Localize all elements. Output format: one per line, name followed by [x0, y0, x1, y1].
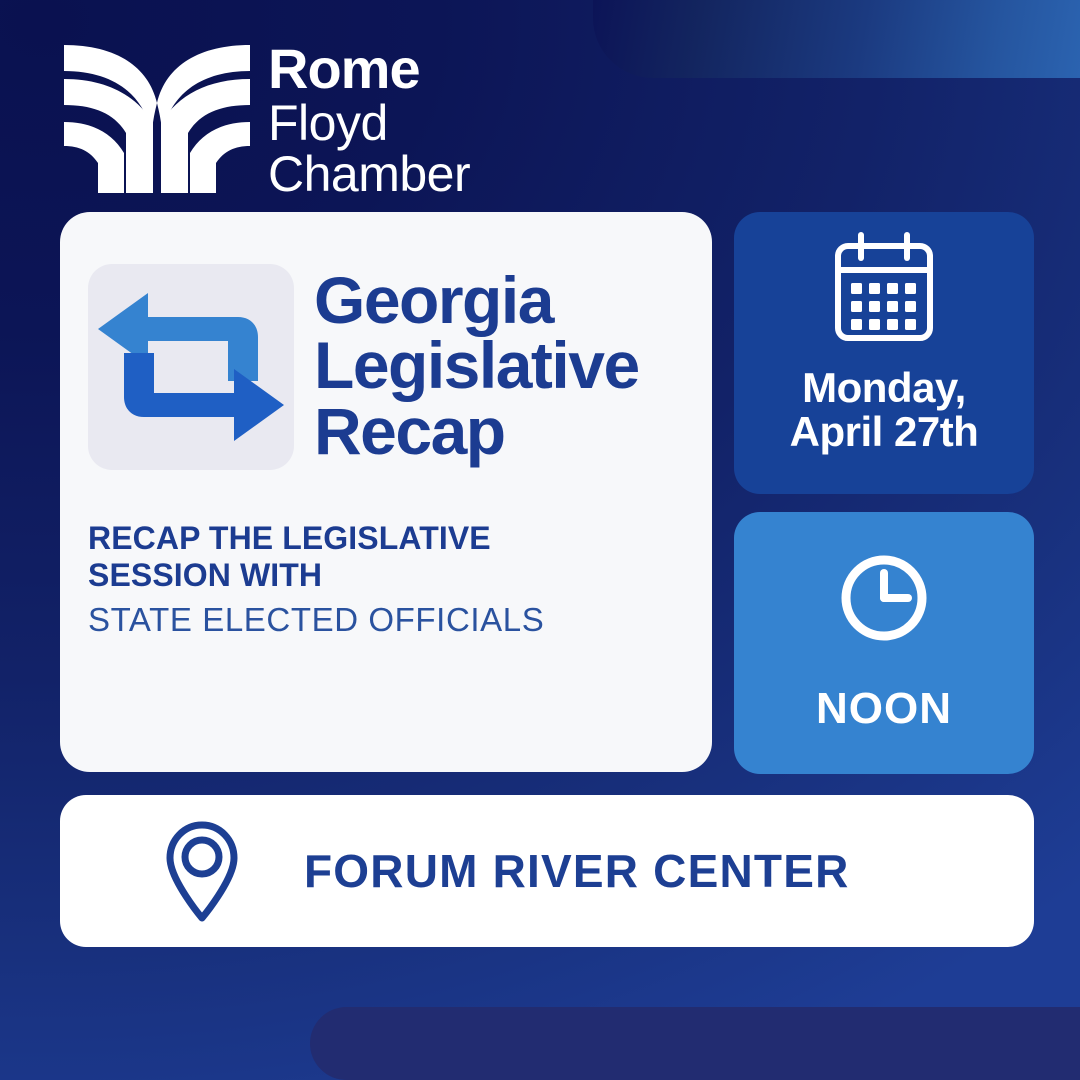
recap-icon-tile [88, 264, 294, 470]
brand-logo: Rome Floyd Chamber [62, 40, 470, 199]
event-main-card: Georgia Legislative Recap RECAP THE LEGI… [60, 212, 712, 772]
event-title: Georgia Legislative Recap [314, 268, 639, 464]
event-subtitle-bold-line-2: SESSION WITH [88, 557, 712, 594]
location-pin-icon [156, 818, 248, 924]
poster-canvas: Rome Floyd Chamber Georgia Legislative R… [0, 0, 1080, 1080]
rome-floyd-chamber-arches-mark [62, 45, 252, 193]
time-label: NOON [816, 684, 952, 734]
event-title-line-3: Recap [314, 399, 639, 464]
date-card: Monday, April 27th [734, 212, 1034, 494]
decorative-bottom-band [310, 1007, 1080, 1080]
brand-wordmark: Rome Floyd Chamber [268, 40, 470, 199]
date-line-1: Monday, [790, 366, 979, 410]
clock-icon [836, 550, 932, 646]
event-subtitle-light: STATE ELECTED OFFICIALS [88, 601, 712, 639]
event-header: Georgia Legislative Recap [60, 212, 712, 470]
event-title-line-2: Legislative [314, 333, 639, 398]
event-subtitle-bold-line-1: RECAP THE LEGISLATIVE [88, 520, 712, 557]
event-subtitle-block: RECAP THE LEGISLATIVE SESSION WITH STATE… [60, 470, 712, 639]
venue-bar: FORUM RIVER CENTER [60, 795, 1034, 947]
recap-repeat-arrows-icon [88, 264, 294, 470]
brand-line-chamber: Chamber [268, 150, 470, 199]
brand-line-floyd: Floyd [268, 99, 470, 148]
calendar-icon [825, 232, 943, 344]
brand-line-rome: Rome [268, 42, 470, 97]
event-subtitle-bold: RECAP THE LEGISLATIVE SESSION WITH [88, 520, 712, 595]
venue-name: FORUM RIVER CENTER [304, 844, 850, 898]
time-card: NOON [734, 512, 1034, 774]
date-text: Monday, April 27th [790, 366, 979, 454]
date-line-2: April 27th [790, 410, 979, 454]
event-title-line-1: Georgia [314, 268, 639, 333]
decorative-top-band [593, 0, 1080, 78]
